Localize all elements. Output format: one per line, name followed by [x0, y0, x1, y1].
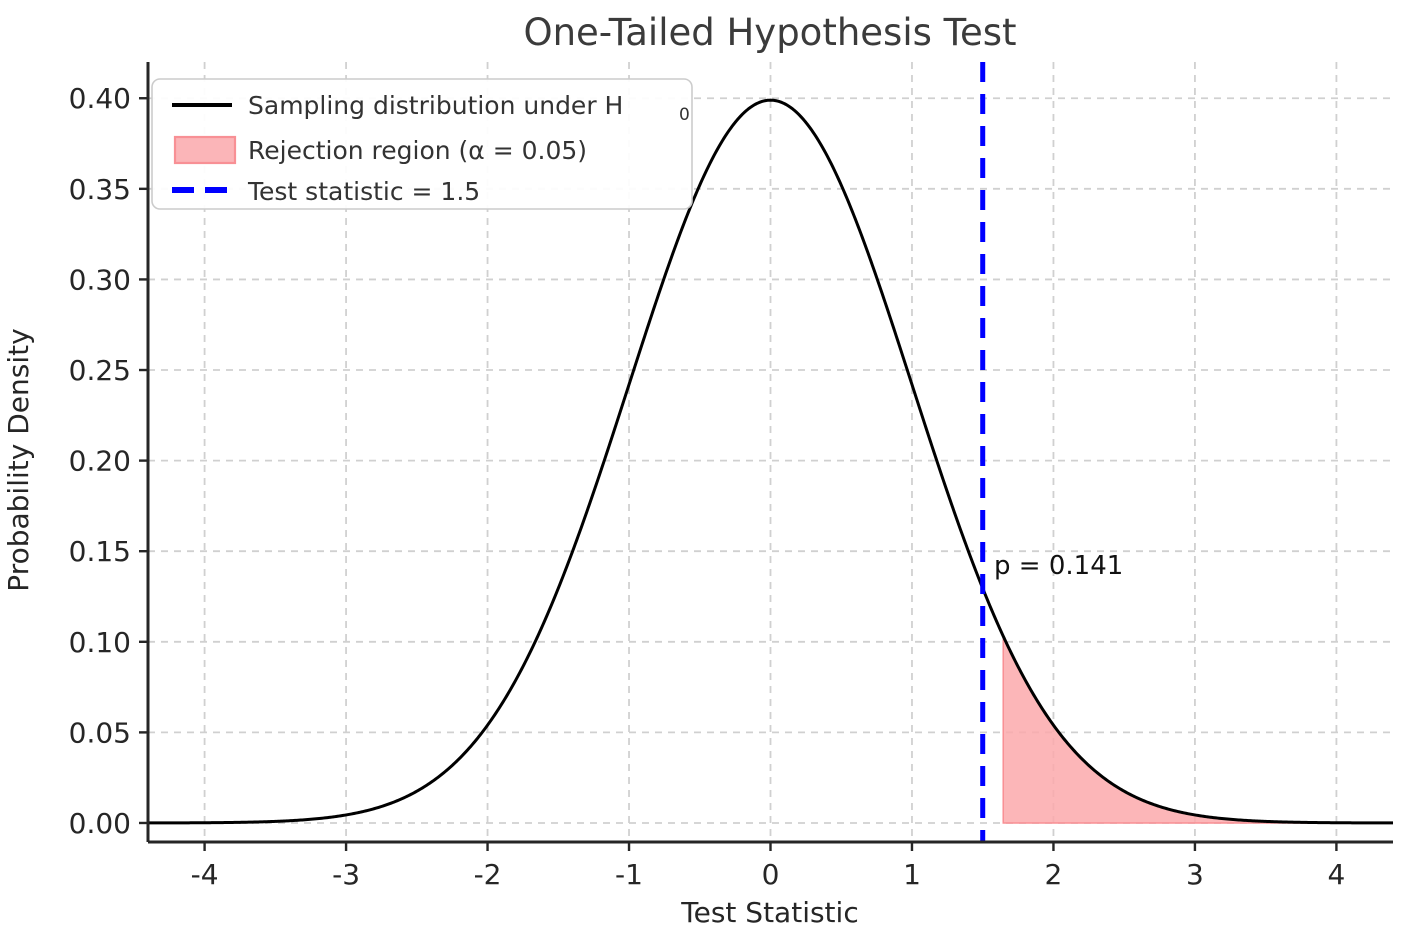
hypothesis-test-chart: One-Tailed Hypothesis Test Test Statisti… — [0, 0, 1408, 947]
x-tick-label: 3 — [1186, 858, 1204, 891]
legend-label-rejection-region: Rejection region (α = 0.05) — [248, 136, 587, 165]
x-tick-label: -1 — [615, 858, 643, 891]
x-tick-label: -4 — [191, 858, 219, 891]
x-tick-label: 2 — [1045, 858, 1063, 891]
y-tick-label: 0.25 — [69, 354, 131, 387]
y-tick-label: 0.35 — [69, 173, 131, 206]
y-tick-label: 0.40 — [69, 82, 131, 115]
legend-label-test-statistic: Test statistic = 1.5 — [247, 177, 480, 206]
y-tick-labels: 0.000.050.100.150.200.250.300.350.40 — [69, 82, 131, 840]
figure-canvas: One-Tailed Hypothesis Test Test Statisti… — [0, 0, 1408, 947]
y-tick-label: 0.00 — [69, 807, 131, 840]
p-value-annotation-group: p = 0.141 — [994, 551, 1123, 581]
x-tick-label: 0 — [762, 858, 780, 891]
x-axis-label: Test Statistic — [680, 896, 858, 929]
y-tick-label: 0.30 — [69, 263, 131, 296]
chart-legend[interactable]: Sampling distribution under H 0 Rejectio… — [152, 79, 692, 209]
y-tick-label: 0.10 — [69, 626, 131, 659]
y-axis-label: Probability Density — [2, 328, 35, 591]
legend-label-sampling-distribution: Sampling distribution under H — [248, 91, 623, 120]
legend-item-sampling-distribution[interactable]: Sampling distribution under H 0 — [172, 91, 690, 125]
x-tick-label: -3 — [332, 858, 360, 891]
y-tick-label: 0.20 — [69, 445, 131, 478]
legend-label-sampling-distribution-subscript: 0 — [679, 105, 690, 125]
y-tick-label: 0.15 — [69, 535, 131, 568]
p-value-annotation: p = 0.141 — [994, 551, 1123, 581]
x-tick-label: -2 — [474, 858, 502, 891]
y-tick-label: 0.05 — [69, 716, 131, 749]
legend-patch-icon — [175, 137, 235, 163]
x-tick-label: 4 — [1327, 858, 1345, 891]
chart-title: One-Tailed Hypothesis Test — [523, 11, 1016, 54]
x-tick-label: 1 — [903, 858, 921, 891]
